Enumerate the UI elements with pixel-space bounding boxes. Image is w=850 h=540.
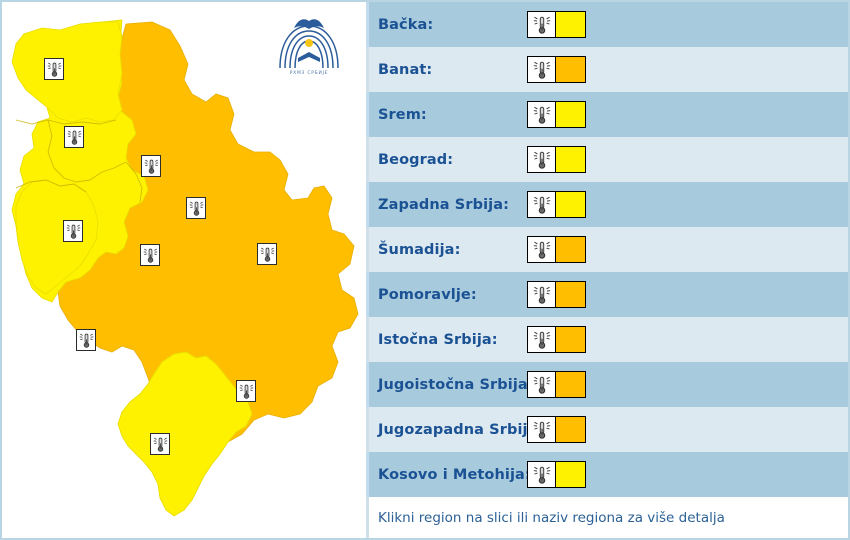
region-row[interactable]: Srem:: [366, 92, 848, 137]
thermometer-heat-icon: [528, 282, 556, 307]
thermometer-heat-icon: [528, 147, 556, 172]
map-regions: [12, 20, 358, 516]
region-row[interactable]: Bačka:: [366, 2, 848, 47]
map-region-backa[interactable]: [12, 22, 122, 122]
region-list-panel: Bačka:Banat:Srem:Beograd:Zapadna Srbija:…: [366, 0, 850, 540]
region-row[interactable]: Kosovo i Metohija:: [366, 452, 848, 497]
region-name-label[interactable]: Istočna Srbija:: [369, 332, 527, 348]
map-marker-jugozapadna[interactable]: [150, 433, 170, 455]
warning-level-swatch-orange: [556, 327, 585, 352]
region-row[interactable]: Jugoistočna Srbija:: [366, 362, 848, 407]
warning-level-swatch-yellow: [556, 192, 585, 217]
map-marker-pomoravlje[interactable]: [257, 243, 277, 265]
weather-warning-page: РХМЗ СРБИЈЕ Bačka:Banat:Srem:Beograd:Zap…: [0, 0, 850, 540]
region-rows: Bačka:Banat:Srem:Beograd:Zapadna Srbija:…: [366, 2, 848, 497]
warning-level-swatch-yellow: [556, 462, 585, 487]
map-marker-backa[interactable]: [44, 58, 64, 80]
map-marker-srem[interactable]: [64, 126, 84, 148]
logo-caption: РХМЗ СРБИЈЕ: [290, 70, 329, 76]
map-marker-sumadija[interactable]: [140, 244, 160, 266]
region-row[interactable]: Pomoravlje:: [366, 272, 848, 317]
region-name-label[interactable]: Banat:: [369, 62, 527, 78]
region-row[interactable]: Banat:: [366, 47, 848, 92]
warning-badge[interactable]: [527, 416, 586, 443]
logo-sun: [305, 39, 313, 47]
warning-badge[interactable]: [527, 191, 586, 218]
thermometer-heat-icon: [528, 372, 556, 397]
region-row[interactable]: Zapadna Srbija:: [366, 182, 848, 227]
warning-badge[interactable]: [527, 326, 586, 353]
warning-level-swatch-orange: [556, 372, 585, 397]
warning-badge[interactable]: [527, 236, 586, 263]
region-name-label[interactable]: Bačka:: [369, 17, 527, 33]
thermometer-heat-icon: [528, 57, 556, 82]
rhmz-serbia-logo: РХМЗ СРБИЈЕ: [274, 12, 344, 78]
thermometer-heat-icon: [528, 12, 556, 37]
region-name-label[interactable]: Šumadija:: [369, 242, 527, 258]
region-name-label[interactable]: Beograd:: [369, 152, 527, 168]
map-marker-jugoistocna[interactable]: [236, 380, 256, 402]
thermometer-heat-icon: [528, 237, 556, 262]
warning-badge[interactable]: [527, 11, 586, 38]
warning-level-swatch-yellow: [556, 147, 585, 172]
region-name-label[interactable]: Zapadna Srbija:: [369, 197, 527, 213]
thermometer-heat-icon: [528, 462, 556, 487]
region-name-label[interactable]: Srem:: [369, 107, 527, 123]
warning-level-swatch-yellow: [556, 102, 585, 127]
map-marker-istocna-srbija[interactable]: [76, 329, 96, 351]
warning-badge[interactable]: [527, 146, 586, 173]
warning-badge[interactable]: [527, 281, 586, 308]
thermometer-heat-icon: [528, 327, 556, 352]
footer-row: Klikni region na slici ili naziv regiona…: [366, 497, 848, 538]
thermometer-heat-icon: [528, 192, 556, 217]
region-name-label[interactable]: Pomoravlje:: [369, 287, 527, 303]
region-row[interactable]: Beograd:: [366, 137, 848, 182]
warning-badge[interactable]: [527, 101, 586, 128]
map-marker-beograd[interactable]: [141, 155, 161, 177]
region-row[interactable]: Šumadija:: [366, 227, 848, 272]
warning-level-swatch-orange: [556, 57, 585, 82]
region-row[interactable]: Istočna Srbija:: [366, 317, 848, 362]
thermometer-heat-icon: [528, 102, 556, 127]
warning-badge[interactable]: [527, 461, 586, 488]
region-row[interactable]: Jugozapadna Srbija:: [366, 407, 848, 452]
footer-hint-text[interactable]: Klikni region na slici ili naziv regiona…: [369, 510, 725, 526]
svg-text:РХМЗ СРБИЈЕ: РХМЗ СРБИЈЕ: [290, 70, 329, 76]
map-marker-zapadna-srbija[interactable]: [63, 220, 83, 242]
warning-badge[interactable]: [527, 56, 586, 83]
region-name-label[interactable]: Kosovo i Metohija:: [369, 467, 527, 483]
logo-book: [298, 52, 320, 62]
warning-level-swatch-yellow: [556, 12, 585, 37]
warning-badge[interactable]: [527, 371, 586, 398]
warning-level-swatch-orange: [556, 417, 585, 442]
serbia-map[interactable]: [2, 2, 368, 540]
map-panel: РХМЗ СРБИЈЕ: [0, 0, 366, 540]
thermometer-heat-icon: [528, 417, 556, 442]
warning-level-swatch-orange: [556, 282, 585, 307]
map-marker-banat[interactable]: [186, 197, 206, 219]
region-name-label[interactable]: Jugozapadna Srbija:: [369, 422, 527, 438]
warning-level-swatch-orange: [556, 237, 585, 262]
region-name-label[interactable]: Jugoistočna Srbija:: [369, 377, 527, 393]
